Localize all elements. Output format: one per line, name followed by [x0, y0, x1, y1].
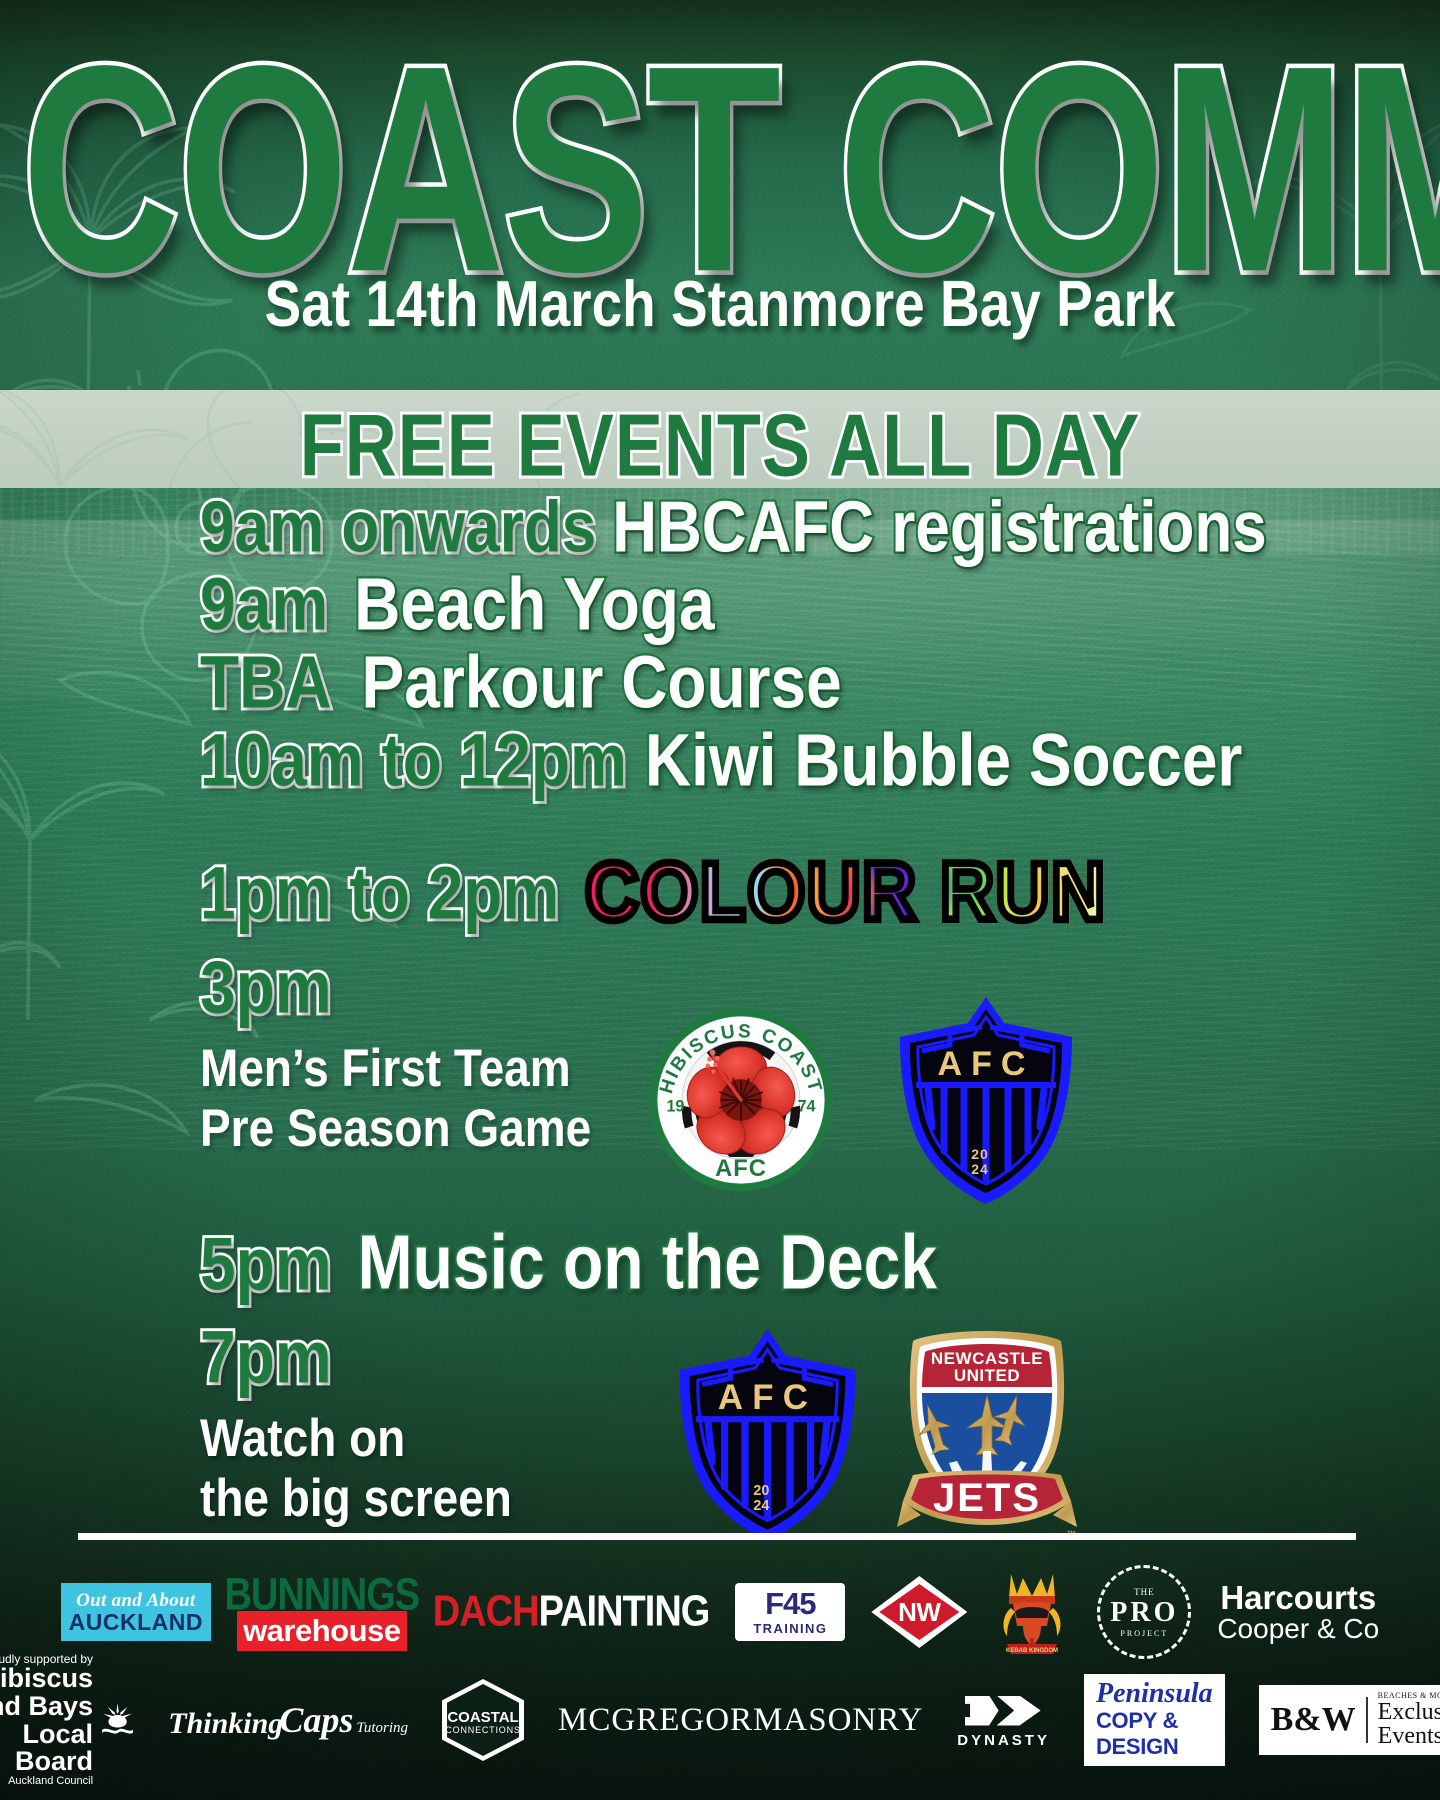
sponsor-line2: AUCKLAND [69, 1611, 203, 1634]
sponsor-line2: Local Board [0, 1721, 93, 1777]
schedule-time: 3pm [200, 950, 591, 1024]
sponsor-thinking-caps-tutoring: Thinking Caps Tutoring [168, 1699, 408, 1741]
afc-year-top: 20 [971, 1146, 989, 1162]
jets-top-line2: UNITED [954, 1366, 1020, 1385]
sponsor-word1: Thinking [168, 1707, 283, 1741]
free-events-headline: FREE EVENTS ALL DAY [0, 396, 1440, 496]
colour-run-title: COLOUR RUN [585, 845, 1107, 939]
sponsor-part2: PAINTING [539, 1587, 710, 1636]
afc-year-top: 20 [753, 1483, 769, 1499]
sponsor-line3: Auckland Council [0, 1776, 93, 1787]
auckland-council-pohutukawa-icon [101, 1689, 134, 1751]
schedule-event-line2: Pre Season Game [200, 1096, 591, 1162]
sponsor-harcourts-cooper-co: Harcourts Cooper & Co [1217, 1581, 1379, 1643]
schedule-time: TBA [200, 639, 332, 725]
sponsor-line1: Hibiscus and Bays [0, 1665, 93, 1721]
schedule-item-first-team: 3pm Men’s First Team Pre Season Game [200, 960, 591, 1154]
schedule-item-parkour: TBA Parkour Course [0, 651, 1440, 725]
auckland-fc-logo: AFC 20 24 [886, 993, 1086, 1208]
sponsor-new-world: NW [871, 1576, 967, 1648]
schedule-item-big-screen: 7pm Watch on the big screen [200, 1330, 512, 1524]
schedule-event-line1: Watch on [200, 1406, 512, 1472]
section-divider [78, 1533, 1356, 1540]
schedule-event: Kiwi Bubble Soccer [645, 717, 1242, 803]
schedule-list: 9am onwards HBCAFC registrations 9am Bea… [0, 498, 1440, 938]
sponsor-part1: DACH [433, 1587, 539, 1636]
sponsor-dynasty: DYNASTY [957, 1692, 1050, 1749]
schedule-time: 10am to 12pm [200, 717, 627, 803]
afc-letters: AFC [718, 1379, 817, 1417]
sponsor-line3: PROJECT [1120, 1629, 1168, 1638]
schedule-item-bubble-soccer: 10am to 12pm Kiwi Bubble Soccer [0, 729, 1440, 803]
hibiscus-coast-afc-logo: HIBISCUS COAST 19 74 AFC [646, 1005, 836, 1195]
sponsor-row-2: Proudly supported by Hibiscus and Bays L… [0, 1666, 1440, 1774]
sponsor-row-1: Out and About AUCKLAND BUNNINGS warehous… [0, 1558, 1440, 1666]
sponsor-peninsula-copy-and-design: Peninsula COPY & DESIGN [1084, 1674, 1225, 1766]
sponsor-word3: Tutoring [356, 1720, 408, 1737]
sponsor-word2: Caps [279, 1699, 353, 1741]
auckland-fc-logo: AFC 20 24 [665, 1325, 870, 1545]
schedule-event: Parkour Course [362, 639, 842, 725]
sponsor-the-pro-project: THE PRO PROJECT [1097, 1565, 1191, 1659]
afc-year-bottom: 24 [971, 1161, 989, 1177]
sponsors-section: Out and About AUCKLAND BUNNINGS warehous… [0, 1558, 1440, 1774]
schedule-item-music: 5pm Music on the Deck [200, 1230, 937, 1306]
sponsor-line2: Events [1378, 1724, 1440, 1748]
sponsor-label: NW [871, 1576, 967, 1648]
schedule-event-line2: the big screen [200, 1466, 512, 1532]
sponsor-out-and-about-auckland: Out and About AUCKLAND [61, 1583, 211, 1641]
sponsor-line1: BUNNINGS [224, 1569, 419, 1621]
newcastle-jets-logo: NEWCASTLE UNITED JETS ™ [895, 1325, 1080, 1540]
sponsor-mark: B&W [1271, 1703, 1356, 1737]
sponsor-bw-exclusive-events: B&W BEACHES & MORE Exclusive Events [1259, 1685, 1440, 1755]
sponsor-line2: MASONRY [753, 1704, 923, 1737]
schedule-event: Beach Yoga [354, 561, 714, 647]
afc-year-bottom: 24 [753, 1498, 769, 1514]
sponsor-kebab-king: KEBAB KINGDOM [993, 1568, 1071, 1656]
sponsor-dach-painting: DACHPAINTING [433, 1587, 710, 1636]
hbc-year-left: 19 [666, 1097, 684, 1115]
schedule-time: 9am [200, 561, 328, 647]
sponsor-f45-training: F45 TRAINING [735, 1583, 845, 1641]
schedule-event-line1: Men’s First Team [200, 1036, 591, 1102]
schedule-time: 1pm to 2pm [200, 850, 559, 936]
kebab-king-logo-icon: KEBAB KINGDOM [993, 1568, 1071, 1656]
sponsor-bunnings-warehouse: BUNNINGS warehouse [237, 1574, 407, 1651]
sponsor-line2: PRO [1110, 1597, 1178, 1629]
dynasty-mark-icon [965, 1692, 1043, 1730]
schedule-time: 5pm [200, 1227, 332, 1301]
sponsor-line1: F45 [765, 1588, 815, 1619]
sponsor-line1: Harcourts [1220, 1581, 1376, 1615]
afc-letters: AFC [938, 1045, 1035, 1083]
sponsor-line2: Cooper & Co [1217, 1615, 1379, 1644]
sponsor-line2: COPY & DESIGN [1096, 1708, 1213, 1760]
sponsor-line2: TRAINING [753, 1621, 827, 1636]
schedule-event: Music on the Deck [358, 1218, 937, 1306]
hbc-bottom-text: AFC [715, 1155, 767, 1182]
sponsor-line1: THE [1134, 1587, 1155, 1597]
sponsor-line1: Out and About [76, 1591, 195, 1610]
schedule-item-beach-yoga: 9am Beach Yoga [0, 573, 1440, 647]
schedule-time: 7pm [200, 1320, 512, 1394]
sponsor-hibiscus-and-bays-local-board: Proudly supported by Hibiscus and Bays L… [0, 1653, 134, 1788]
schedule-item-colour-run: 1pm to 2pm COLOUR RUN [0, 853, 1440, 938]
event-date-location: Sat 14th March Stanmore Bay Park [0, 266, 1440, 342]
sponsor-label: KEBAB KINGDOM [1006, 1648, 1058, 1654]
sponsor-coastal-connections: COASTAL CONNECTIONS [442, 1679, 524, 1761]
schedule-time: 9am onwards [200, 487, 596, 569]
poster-root: COAST COMMUNITY DAY Sat 14th March Stanm… [0, 0, 1440, 1800]
schedule-item-registrations: 9am onwards HBCAFC registrations [0, 498, 1440, 569]
schedule-event: HBCAFC registrations [612, 487, 1267, 569]
sponsor-line1: Exclusive [1378, 1700, 1440, 1724]
jets-banner-text: JETS [933, 1476, 1041, 1520]
sponsor-line2: CONNECTIONS [442, 1725, 524, 1735]
hbc-year-right: 74 [798, 1097, 816, 1115]
sponsor-label: DYNASTY [957, 1732, 1050, 1749]
sponsor-line1: MCGREGOR [558, 1704, 753, 1737]
divider-bar [1366, 1697, 1368, 1743]
sponsor-line1: COASTAL [442, 1709, 524, 1726]
sponsor-line1: Peninsula [1096, 1680, 1213, 1708]
sponsor-mcgregor-masonry: MCGREGOR MASONRY [558, 1704, 923, 1737]
